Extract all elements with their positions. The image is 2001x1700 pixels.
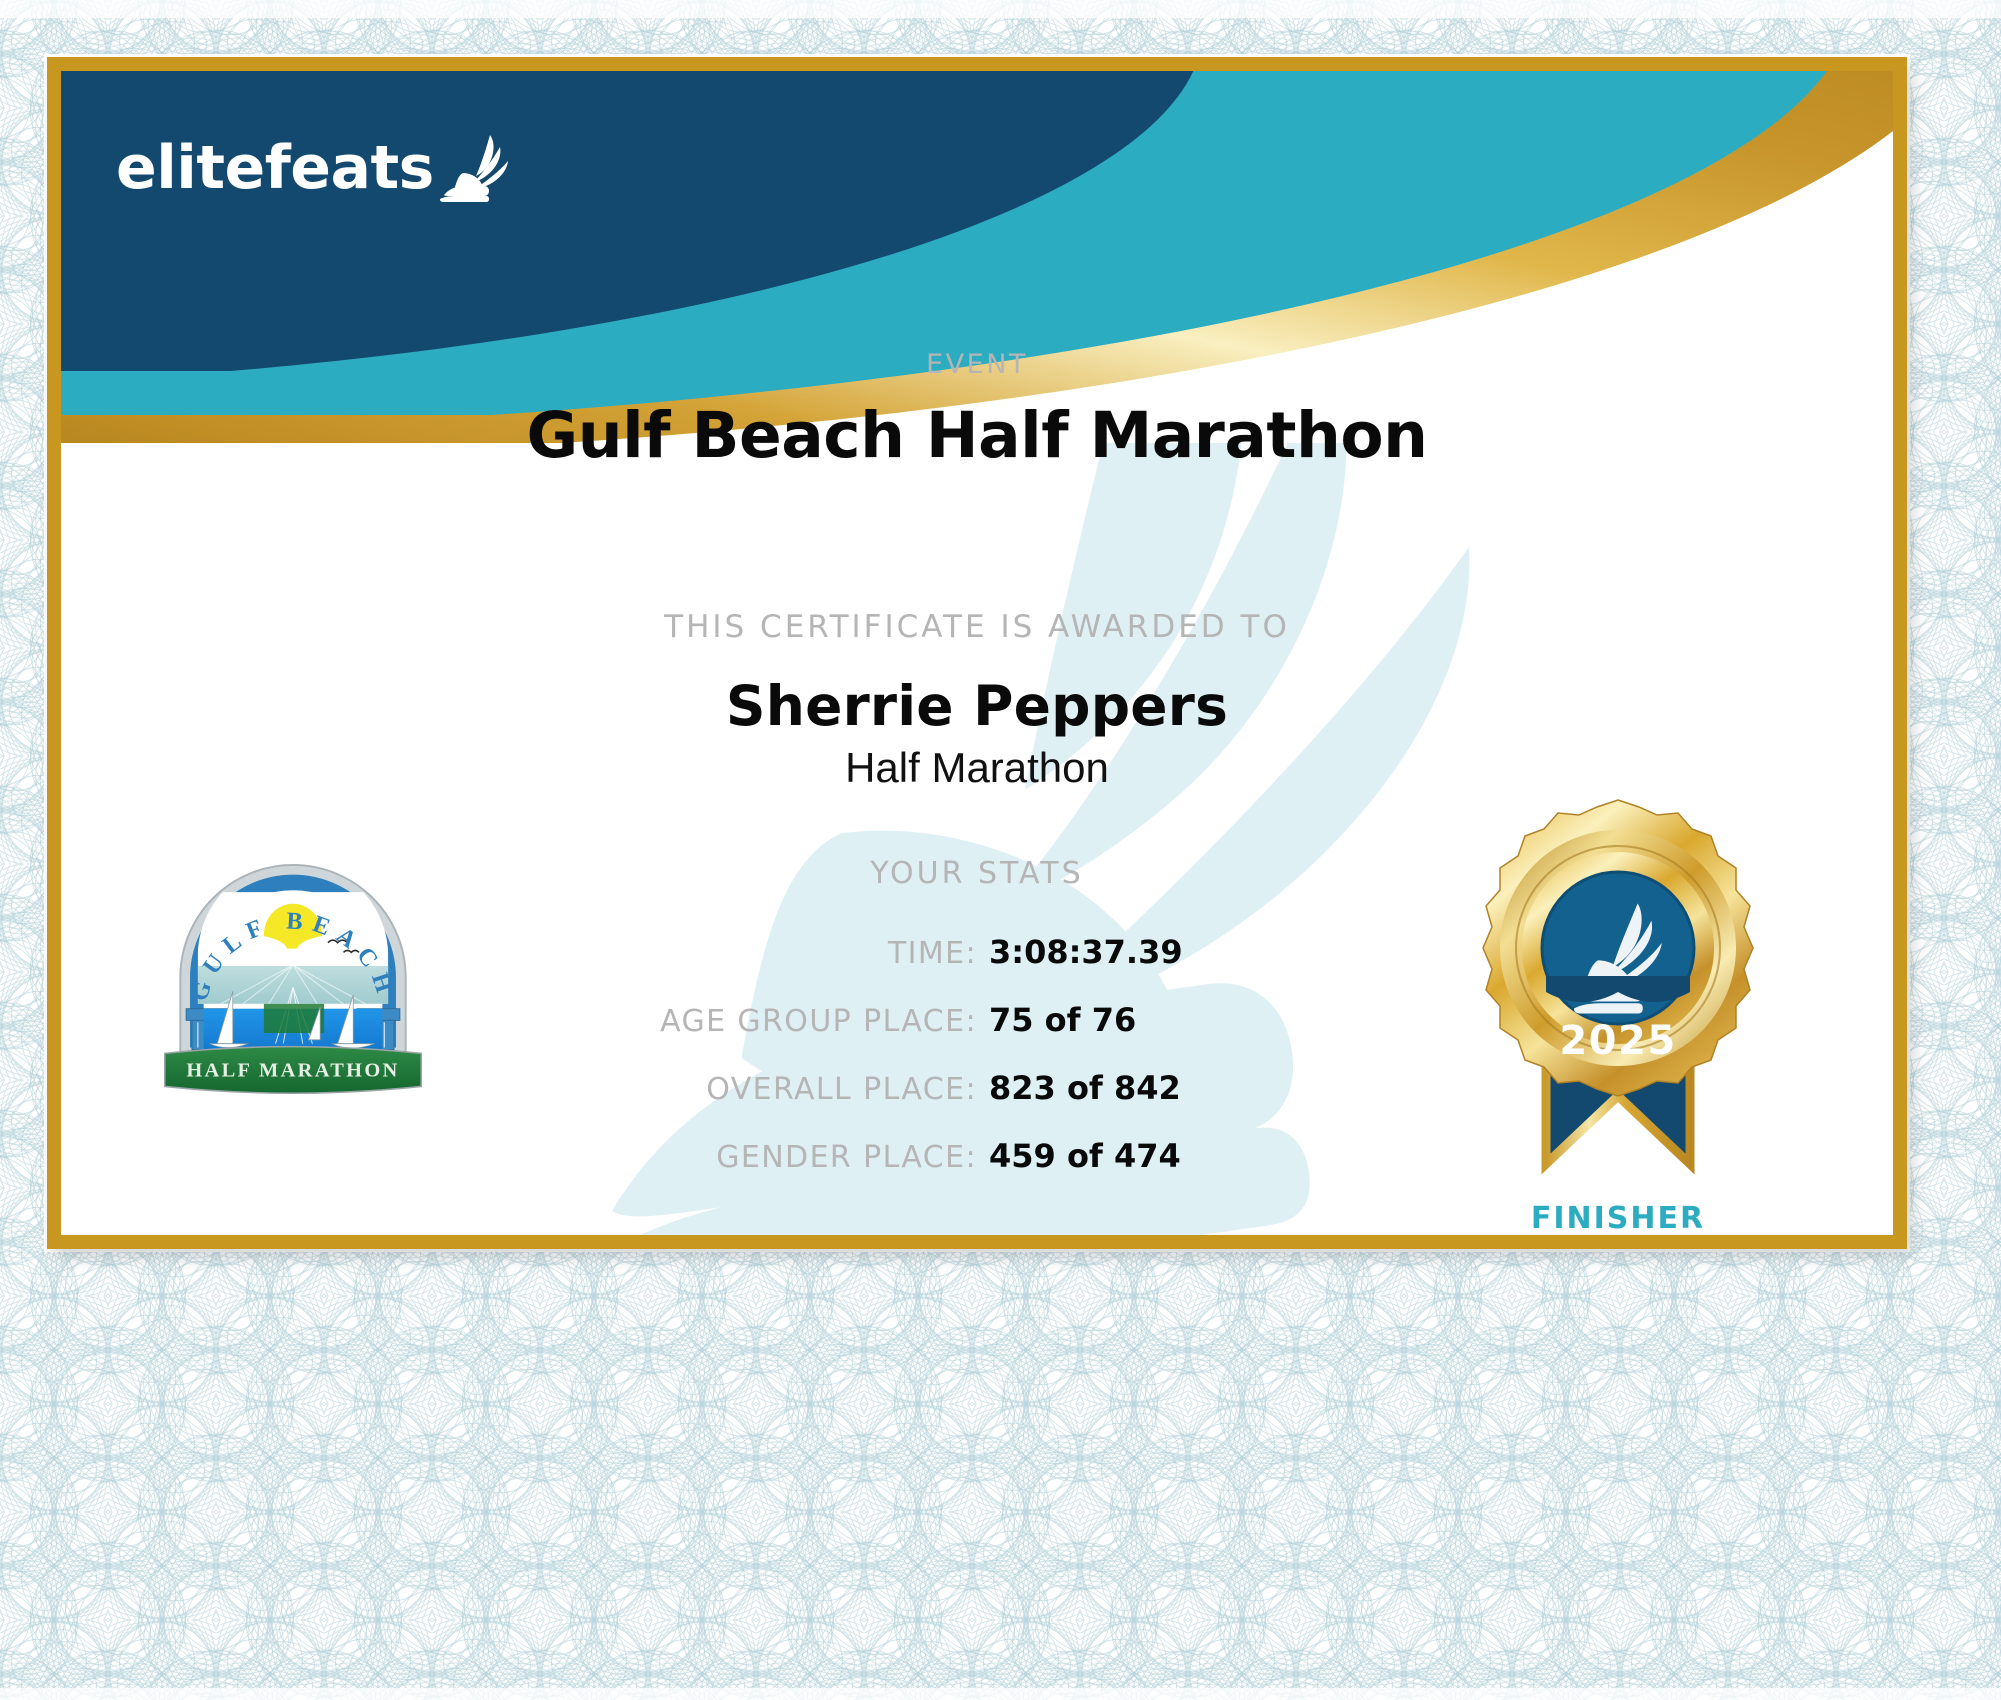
recipient-name: Sherrie Peppers (61, 674, 1893, 738)
medal-year-text: 2025 (1559, 1018, 1676, 1064)
certificate-inner: elitefeats (61, 71, 1893, 1235)
stat-label: TIME: (367, 936, 977, 971)
awarded-to-label: THIS CERTIFICATE IS AWARDED TO (61, 609, 1893, 645)
event-label: EVENT (61, 349, 1893, 380)
gulf-beach-race-logo: GULF BEACH (146, 863, 440, 1101)
recipient-division: Half Marathon (61, 744, 1893, 792)
stat-label: GENDER PLACE: (367, 1140, 977, 1175)
certificate-page: elitefeats (0, 0, 2001, 1700)
stat-label: AGE GROUP PLACE: (367, 1004, 977, 1039)
badge-banner-text: HALF MARATHON (186, 1060, 399, 1082)
stat-label: OVERALL PLACE: (367, 1072, 977, 1107)
event-name: Gulf Beach Half Marathon (61, 399, 1893, 472)
winged-foot-icon (430, 133, 516, 210)
certificate-card: elitefeats (47, 57, 1907, 1249)
elitefeats-logo: elitefeats (116, 133, 516, 198)
finisher-certificate-caption: FINISHER CERTIFICATE (1453, 1202, 1783, 1235)
finisher-medal-block: 2025 FINISHER CERTIFICATE (1453, 796, 1783, 1235)
finisher-caption-line1: FINISHER (1453, 1202, 1783, 1235)
brand-wordmark: elitefeats (116, 138, 434, 198)
gold-award-ribbon-icon: 2025 (1468, 796, 1768, 1196)
